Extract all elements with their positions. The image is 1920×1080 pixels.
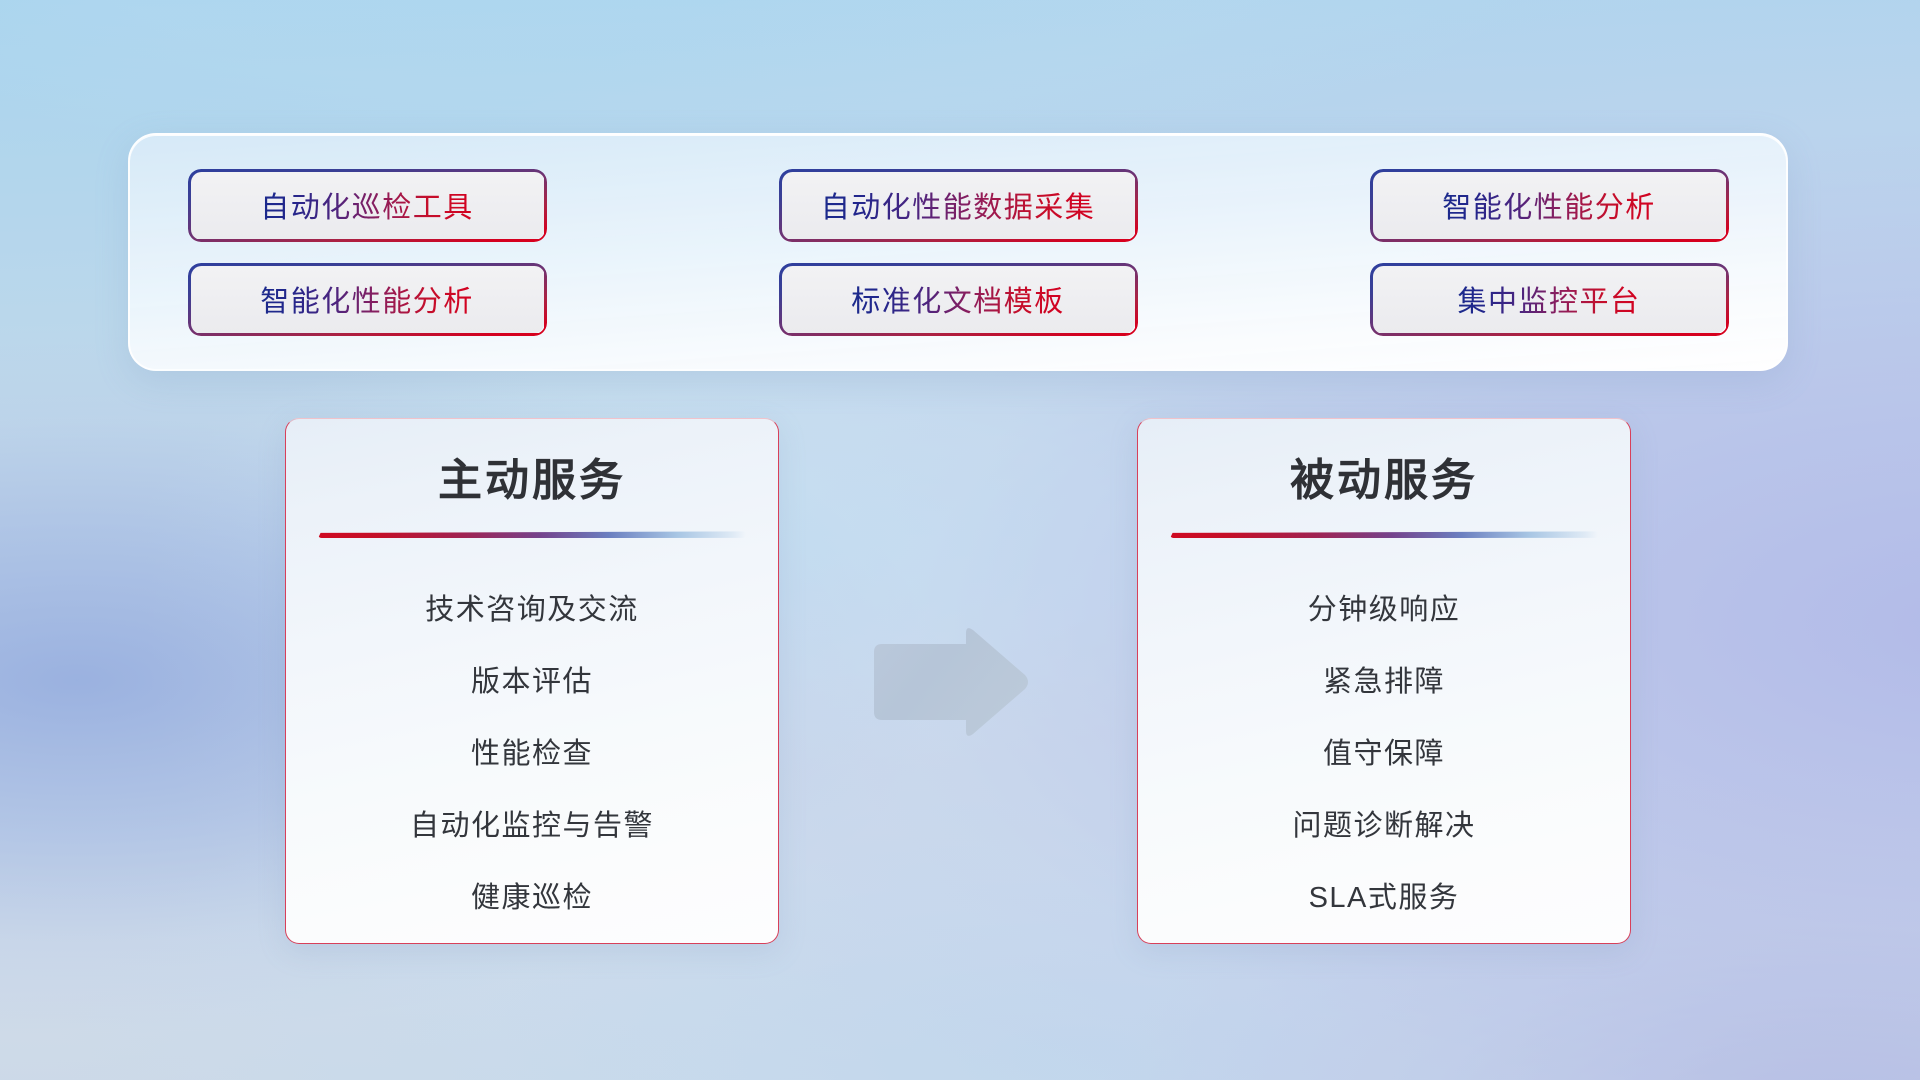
capability-pill-label: 自动化巡检工具 bbox=[260, 184, 474, 226]
capability-pill-label: 集中监控平台 bbox=[1457, 278, 1640, 320]
list-item[interactable]: 值守保障 bbox=[1323, 718, 1445, 790]
capability-pill-automation-inspection-tool[interactable]: 自动化巡检工具 bbox=[188, 169, 546, 241]
capability-pill-label: 自动化性能数据采集 bbox=[821, 184, 1096, 226]
capability-pill-standardized-document-template[interactable]: 标准化文档模板 bbox=[779, 263, 1137, 335]
flow-arrow bbox=[870, 623, 1032, 741]
capability-pill-label: 智能化性能分析 bbox=[1442, 184, 1656, 226]
service-item-list: 技术咨询及交流 版本评估 性能检查 自动化监控与告警 健康巡检 bbox=[286, 574, 778, 934]
list-item[interactable]: 健康巡检 bbox=[471, 862, 593, 934]
capability-pill-intelligent-performance-analysis-2[interactable]: 智能化性能分析 bbox=[188, 263, 546, 335]
arrow-right-icon bbox=[870, 623, 1032, 741]
card-title: 主动服务 bbox=[286, 457, 778, 505]
capability-row-1: 自动化巡检工具 自动化性能数据采集 智能化性能分析 bbox=[188, 169, 1728, 241]
list-item[interactable]: 技术咨询及交流 bbox=[425, 574, 639, 646]
list-item[interactable]: 性能检查 bbox=[471, 718, 593, 790]
card-header: 主动服务 bbox=[286, 419, 778, 538]
capability-pill-intelligent-performance-analysis[interactable]: 智能化性能分析 bbox=[1370, 169, 1728, 241]
capability-row-2: 智能化性能分析 标准化文档模板 集中监控平台 bbox=[188, 263, 1728, 335]
card-title-divider bbox=[1170, 531, 1598, 538]
capabilities-banner: 自动化巡检工具 自动化性能数据采集 智能化性能分析 智能化性能分析 标准化文档模… bbox=[128, 133, 1788, 371]
card-title-divider bbox=[318, 531, 746, 538]
capability-pill-label: 智能化性能分析 bbox=[260, 278, 474, 320]
card-title: 被动服务 bbox=[1138, 457, 1630, 505]
capability-pill-label: 标准化文档模板 bbox=[851, 278, 1065, 320]
list-item[interactable]: SLA式服务 bbox=[1309, 862, 1460, 934]
card-header: 被动服务 bbox=[1138, 419, 1630, 538]
list-item[interactable]: 自动化监控与告警 bbox=[410, 790, 654, 862]
service-item-list: 分钟级响应 紧急排障 值守保障 问题诊断解决 SLA式服务 bbox=[1138, 574, 1630, 934]
list-item[interactable]: 紧急排障 bbox=[1323, 646, 1445, 718]
slide-canvas: 自动化巡检工具 自动化性能数据采集 智能化性能分析 智能化性能分析 标准化文档模… bbox=[0, 0, 1920, 1080]
service-card-reactive: 被动服务 分钟级响应 紧急排障 值守保障 问题诊断解决 SLA式服务 bbox=[1137, 418, 1631, 944]
capability-pill-automation-performance-data-collection[interactable]: 自动化性能数据采集 bbox=[779, 169, 1137, 241]
capability-pill-centralized-monitoring-platform[interactable]: 集中监控平台 bbox=[1370, 263, 1728, 335]
list-item[interactable]: 分钟级响应 bbox=[1308, 574, 1461, 646]
list-item[interactable]: 问题诊断解决 bbox=[1292, 790, 1475, 862]
service-card-proactive: 主动服务 技术咨询及交流 版本评估 性能检查 自动化监控与告警 健康巡检 bbox=[285, 418, 779, 944]
arrow-shape bbox=[874, 628, 1028, 736]
list-item[interactable]: 版本评估 bbox=[471, 646, 593, 718]
